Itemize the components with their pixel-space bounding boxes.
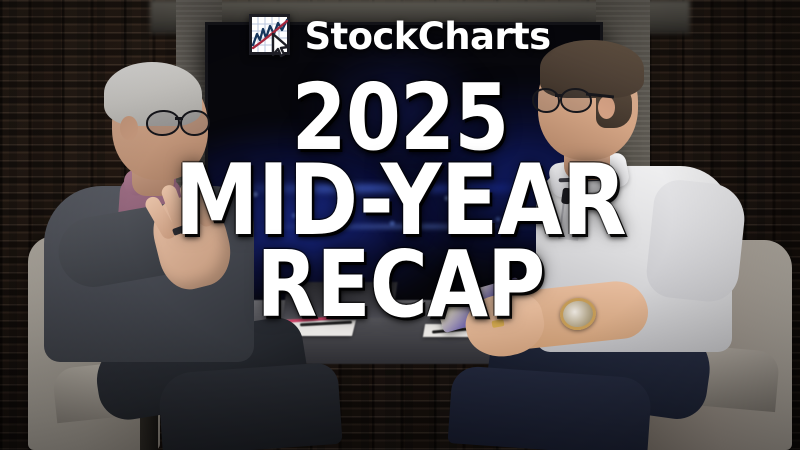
left-person-leg [157,362,342,450]
stock-chart-cursor-icon [249,14,293,58]
brand-name: StockCharts [304,18,550,55]
headline-line-recap: RECAP [256,245,544,324]
video-thumbnail: StockCharts 2025 MID-YEAR RECAP [0,0,800,450]
headline-block: 2025 MID-YEAR RECAP [0,78,800,324]
brand-lockup: StockCharts [0,14,800,58]
right-person-leg [448,365,653,450]
